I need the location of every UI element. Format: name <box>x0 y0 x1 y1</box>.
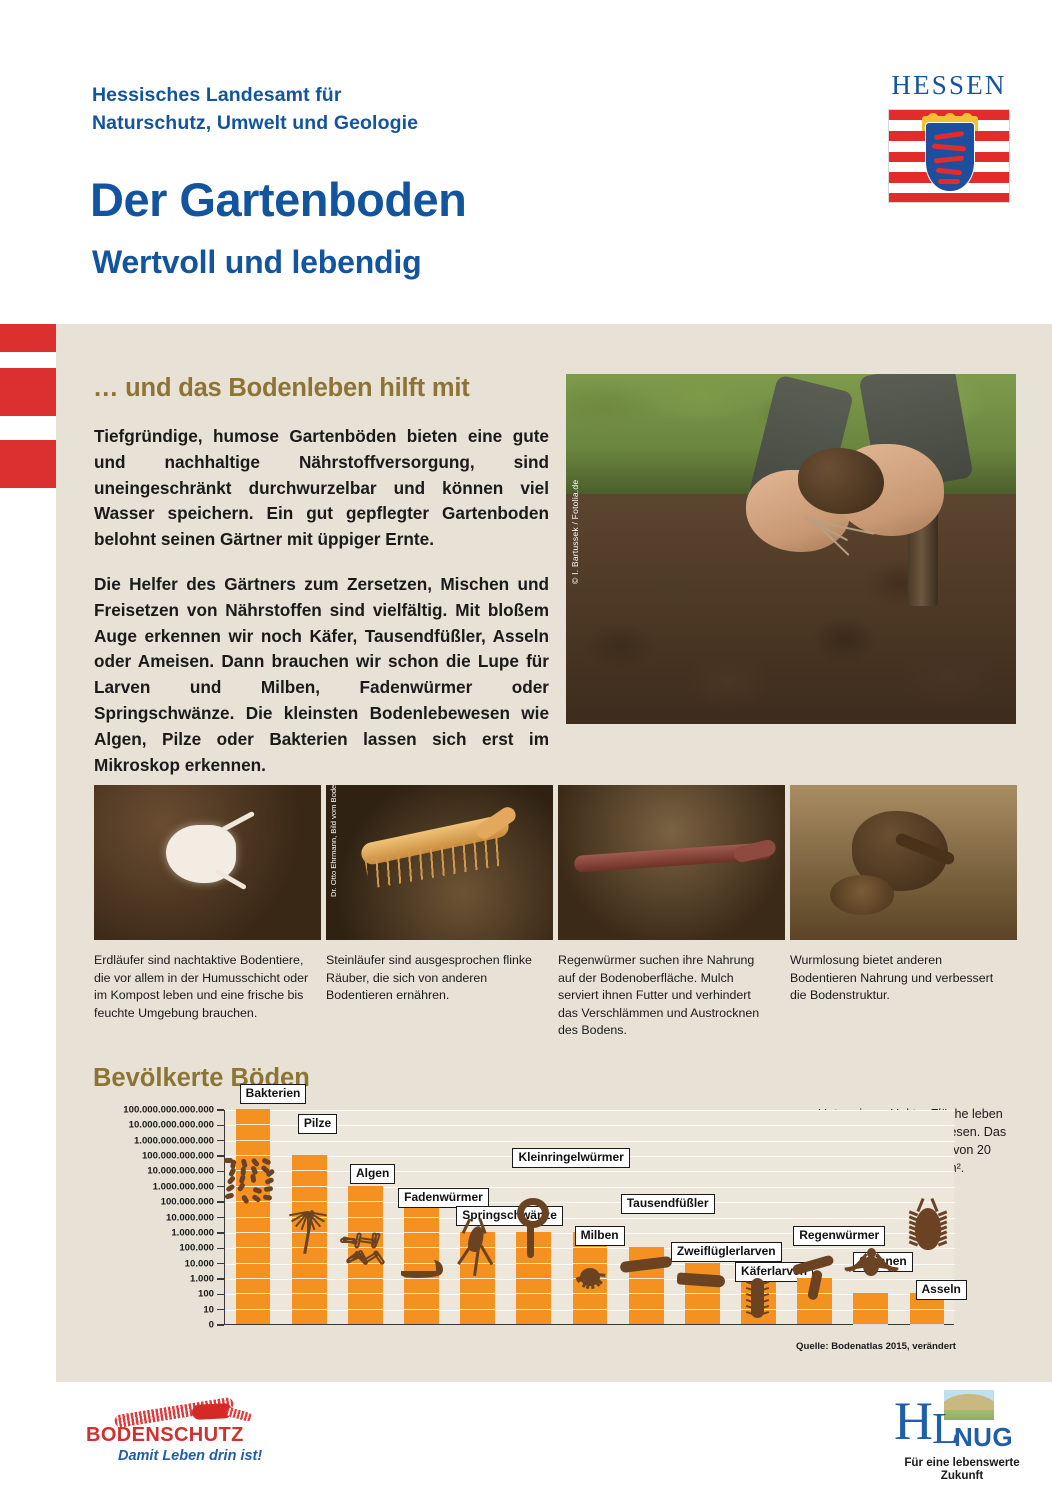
y-axis-tick <box>217 1155 224 1156</box>
y-axis-tick-label: 10.000 <box>185 1258 214 1269</box>
y-axis-tick <box>217 1109 224 1110</box>
page-footer: BODENSCHUTZ Damit Leben drin ist! H L NU… <box>0 1382 1052 1489</box>
bar-segment-line <box>629 1309 664 1310</box>
hlnug-claim: Für eine lebenswerte Zukunft <box>888 1456 1036 1482</box>
thumbnail-caption: Steinläufer sind ausgesprochen flinke Rä… <box>326 952 542 1005</box>
y-axis-tick <box>217 1232 224 1233</box>
thumbnail-wurmlosung <box>790 785 1017 940</box>
gridline <box>225 1141 955 1142</box>
y-axis-tick <box>217 1294 224 1295</box>
bar-segment-line <box>460 1293 495 1294</box>
bar-segment-line <box>404 1247 439 1248</box>
y-axis-tick-label: 100.000 <box>179 1243 214 1254</box>
critter-icon-fungus <box>283 1196 335 1252</box>
larva-leg <box>221 811 255 832</box>
bar-label-zweiflüglerlarven: Zweiflüglerlarven <box>671 1242 782 1262</box>
bar-segment-line <box>516 1309 551 1310</box>
bar-label-fadenwürmer: Fadenwürmer <box>398 1188 489 1208</box>
bar-segment-line <box>348 1201 383 1202</box>
critter-icon-ringworm <box>511 1198 557 1260</box>
y-axis-tick-label: 100.000.000.000.000 <box>123 1105 214 1116</box>
bar-segment-line <box>236 1247 271 1248</box>
bar-segment-line <box>292 1293 327 1294</box>
organisation-name: Hessisches Landesamt für Naturschutz, Um… <box>92 82 418 137</box>
stripe-block <box>0 440 56 488</box>
bar-segment-line <box>236 1140 271 1141</box>
bar-segment-line <box>236 1232 271 1233</box>
bar-segment-line <box>404 1309 439 1310</box>
hessen-coat-of-arms <box>888 109 1010 203</box>
hessen-wordmark: HESSEN <box>888 72 1010 99</box>
organisation-line-1: Hessisches Landesamt für <box>92 82 418 110</box>
bar-label-tausendfüßler: Tausendfüßler <box>621 1194 715 1214</box>
bar-segment-line <box>236 1309 271 1310</box>
bodenschutz-logo: BODENSCHUTZ Damit Leben drin ist! <box>86 1398 346 1464</box>
content-panel: … und das Bodenleben hilft mit Tiefgründ… <box>56 324 1052 1382</box>
bar-segment-line <box>629 1278 664 1279</box>
hlnug-letters-nug: NUG <box>954 1422 1013 1453</box>
y-axis-tick <box>217 1278 224 1279</box>
y-axis-tick <box>217 1324 224 1325</box>
critter-icon-dots <box>224 1158 282 1208</box>
page-title: Der Gartenboden <box>90 172 466 227</box>
bar-segment-line <box>516 1293 551 1294</box>
hero-photo-credit: © I. Bartussek / Fotolia.de <box>570 480 580 584</box>
thumbnail-regenwurm <box>558 785 785 940</box>
bar-label-kleinringelwürmer: Kleinringelwürmer <box>512 1148 629 1168</box>
y-axis-tick-label: 0 <box>209 1320 214 1331</box>
gridline <box>225 1171 955 1172</box>
bar-label-milben: Milben <box>575 1226 625 1246</box>
bar-segment-line <box>685 1309 720 1310</box>
bar-segment-line <box>460 1309 495 1310</box>
bar-segment-line <box>853 1324 888 1325</box>
soil-clod <box>798 448 884 514</box>
thumbnail-caption: Regenwürmer suchen ihre Nahrung auf der … <box>558 952 774 1040</box>
y-axis-tick <box>217 1263 224 1264</box>
bar-label-asseln: Asseln <box>916 1280 967 1300</box>
y-axis-tick-label: 100.000.000.000 <box>142 1151 214 1162</box>
bar-segment-line <box>573 1247 608 1248</box>
y-axis-tick <box>217 1309 224 1310</box>
bar-segment-line <box>236 1217 271 1218</box>
bar-segment-line <box>292 1309 327 1310</box>
chart-bar <box>236 1109 271 1324</box>
y-axis-tick-label: 10.000.000 <box>166 1212 214 1223</box>
intro-paragraph-2: Die Helfer des Gärtners zum Zersetzen, M… <box>94 572 549 778</box>
bar-segment-line <box>348 1293 383 1294</box>
y-axis-tick-label: 1.000.000.000.000 <box>134 1135 214 1146</box>
bar-segment-line <box>236 1124 271 1125</box>
bodenschutz-claim: Damit Leben drin ist! <box>118 1448 346 1464</box>
y-axis-labels: 100.000.000.000.00010.000.000.000.0001.0… <box>94 1110 214 1325</box>
bar-segment-line <box>348 1309 383 1310</box>
thumbnail-steinlaeufer: Dr. Otto Ehrmann, Bild vom Boden <box>326 785 553 940</box>
critter-icon-millipede <box>620 1252 672 1278</box>
intro-paragraph-1: Tiefgründige, humose Gartenböden bieten … <box>94 424 549 553</box>
critter-icon-nematode <box>399 1256 445 1296</box>
bar-label-bakterien: Bakterien <box>240 1084 307 1104</box>
lion-shield-icon <box>925 122 975 192</box>
critter-icon-springtail <box>461 1218 495 1280</box>
bar-segment-line <box>910 1324 945 1325</box>
y-axis-tick-label: 1.000.000.000 <box>153 1181 214 1192</box>
y-axis-tick <box>217 1171 224 1172</box>
bar-segment-line <box>910 1309 945 1310</box>
worm-icon <box>114 1398 274 1426</box>
y-axis-tick-label: 100 <box>198 1289 214 1300</box>
worm-cast <box>830 875 894 915</box>
hlnug-letter-h: H <box>894 1396 933 1448</box>
bar-segment-line <box>797 1309 832 1310</box>
gridline <box>225 1187 955 1188</box>
page-subtitle: Wertvoll und lebendig <box>92 244 421 281</box>
y-axis-tick <box>217 1248 224 1249</box>
bar-segment-line <box>236 1278 271 1279</box>
gridline <box>225 1110 955 1111</box>
bar-segment-line <box>236 1293 271 1294</box>
bar-segment-line <box>404 1217 439 1218</box>
bar-segment-line <box>292 1263 327 1264</box>
critter-icon-earthworm <box>790 1258 840 1302</box>
chart-source: Quelle: Bodenatlas 2015, verändert <box>616 1341 956 1352</box>
bodenschutz-title: BODENSCHUTZ <box>86 1424 346 1447</box>
critter-icon-algae <box>340 1238 390 1282</box>
y-axis-tick-label: 10.000.000.000.000 <box>129 1120 214 1131</box>
y-axis-tick <box>217 1217 224 1218</box>
y-axis-tick <box>217 1125 224 1126</box>
bar-segment-line <box>629 1293 664 1294</box>
critter-icon-woodlouse <box>907 1198 947 1254</box>
y-axis-tick-label: 10 <box>203 1304 214 1315</box>
y-axis-tick <box>217 1186 224 1187</box>
bar-label-pilze: Pilze <box>298 1114 337 1134</box>
bar-segment-line <box>236 1263 271 1264</box>
critter-icon-spider <box>849 1238 893 1292</box>
bar-segment-line <box>573 1309 608 1310</box>
thumbnail-erdlaeufer <box>94 785 321 940</box>
bar-segment-line <box>516 1278 551 1279</box>
y-axis-tick-label: 10.000.000.000 <box>147 1166 214 1177</box>
hessen-state-logo: HESSEN <box>888 72 1010 203</box>
chart-bar <box>853 1293 888 1324</box>
page-header: Hessisches Landesamt für Naturschutz, Um… <box>0 0 1052 324</box>
hlnug-logo: H L NUG Für eine lebenswerte Zukunft <box>888 1396 1036 1482</box>
bar-segment-line <box>516 1263 551 1264</box>
bar-segment-line <box>292 1170 327 1171</box>
y-axis-tick-label: 100.000.000 <box>161 1197 214 1208</box>
y-axis-tick <box>217 1140 224 1141</box>
bar-segment-line <box>853 1309 888 1310</box>
bar-segment-line <box>685 1293 720 1294</box>
hlnug-wordmark: H L NUG <box>888 1396 1036 1452</box>
thumbnail-caption: Wurmlosung bietet anderen Bodentieren Na… <box>790 952 1006 1005</box>
bar-label-algen: Algen <box>350 1164 395 1184</box>
y-axis-tick-label: 1.000.000 <box>171 1227 214 1238</box>
bar-segment-line <box>348 1217 383 1218</box>
bar-chart: 100.000.000.000.00010.000.000.000.0001.0… <box>94 1110 1014 1364</box>
hero-photo-hands-with-soil: © I. Bartussek / Fotolia.de <box>566 374 1016 724</box>
stripe-block <box>0 368 56 416</box>
critter-icon-mite <box>573 1260 607 1294</box>
bar-segment-line <box>292 1278 327 1279</box>
y-axis-tick-label: 1.000 <box>190 1273 214 1284</box>
bar-segment-line <box>236 1155 271 1156</box>
critter-icon-flylarva <box>677 1268 727 1290</box>
bar-segment-line <box>292 1186 327 1187</box>
chart-plot-area: BakterienPilzeAlgenFadenwürmerSpringschw… <box>224 1110 954 1325</box>
organisation-line-2: Naturschutz, Umwelt und Geologie <box>92 110 418 138</box>
section-heading: … und das Bodenleben hilft mit <box>93 374 470 403</box>
thumbnail-credit: Dr. Otto Ehrmann, Bild vom Boden <box>329 785 338 897</box>
bar-segment-line <box>404 1232 439 1233</box>
thumbnail-caption: Erdläufer sind nachtaktive Bodentiere, d… <box>94 952 310 1022</box>
critter-icon-beetlelarva <box>745 1276 771 1320</box>
y-axis-tick <box>217 1201 224 1202</box>
